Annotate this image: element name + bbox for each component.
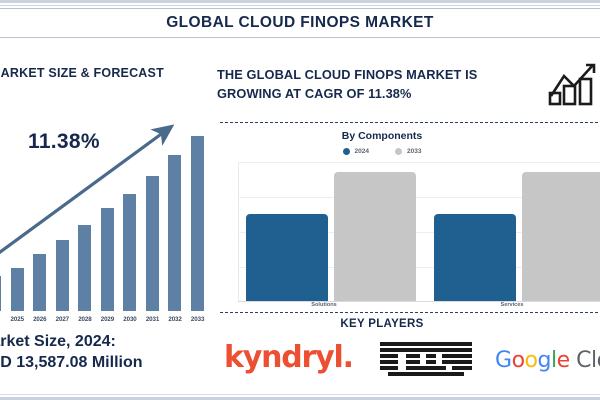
market-size-forecast-chart: [0, 116, 204, 311]
forecast-year-label: 2033: [191, 316, 204, 323]
forecast-year-label: 2031: [146, 316, 159, 323]
component-bar: [434, 214, 516, 301]
market-size-forecast-badge: MARKET SIZE & FORECAST: [0, 62, 184, 84]
legend-swatch-icon: [395, 148, 402, 155]
forecast-year-label: 2026: [33, 316, 46, 323]
title-band: GLOBAL CLOUD FINOPS MARKET: [0, 8, 600, 38]
forecast-bar: [123, 194, 136, 311]
forecast-bar: [168, 155, 181, 311]
bar-chart-growth-icon: [547, 62, 599, 106]
legend-swatch-icon: [343, 148, 350, 155]
forecast-bar: [101, 208, 114, 311]
bottom-frame-rule-secondary: [0, 394, 600, 395]
forecast-bar: [78, 225, 91, 311]
gridline: [238, 162, 600, 163]
forecast-bar: [146, 176, 159, 311]
legend-label: 2033: [407, 148, 421, 155]
key-players-title: KEY PLAYERS: [212, 318, 552, 330]
component-bar: [522, 172, 600, 301]
infographic-root: GLOBAL CLOUD FINOPS MARKET MARKET SIZE &…: [0, 0, 600, 400]
market-size-line-1: Market Size, 2024:: [0, 332, 186, 353]
divider-bottom: [220, 312, 598, 313]
forecast-year-label: 2032: [168, 316, 181, 323]
divider-top: [220, 122, 598, 123]
forecast-year-label: 2028: [78, 316, 91, 323]
forecast-year-label: 2027: [56, 316, 69, 323]
forecast-year-label: 2029: [101, 316, 114, 323]
market-size-line-2: USD 13,587.08 Million: [0, 353, 186, 374]
component-bar: [246, 214, 328, 301]
forecast-year-axis: 202520262027202820292030203120322033: [0, 316, 204, 323]
forecast-bar: [56, 240, 69, 311]
bar-group-solutions: [246, 172, 416, 301]
market-size-callout: Market Size, 2024: USD 13,587.08 Million: [0, 332, 186, 374]
top-frame-rule-secondary: [0, 5, 600, 6]
category-label: Services: [422, 302, 600, 308]
components-chart-title: By Components: [212, 130, 552, 142]
category-label: Solutions: [234, 302, 414, 308]
forecast-bar: [11, 268, 24, 311]
bottom-strip: [0, 378, 600, 394]
headline-line-2: GROWING AT CAGR OF 11.38%: [217, 85, 517, 104]
forecast-year-label: 2030: [123, 316, 136, 323]
forecast-bar: [0, 276, 1, 311]
forecast-bar: [33, 254, 46, 311]
component-bar: [334, 172, 416, 301]
page-title: GLOBAL CLOUD FINOPS MARKET: [166, 14, 434, 32]
components-legend: 20242033: [212, 148, 552, 155]
headline-block: THE GLOBAL CLOUD FINOPS MARKET IS GROWIN…: [217, 66, 517, 103]
left-panel-market-size: MARKET SIZE & FORECAST 11.38% 2025202620…: [0, 44, 220, 389]
kyndryl-logo: kyndryl.: [224, 340, 353, 375]
forecast-year-label: [0, 316, 1, 323]
legend-label: 2024: [355, 148, 369, 155]
right-panel-components: THE GLOBAL CLOUD FINOPS MARKET IS GROWIN…: [212, 44, 600, 393]
forecast-bar: [191, 136, 204, 312]
legend-item[interactable]: 2024: [343, 148, 369, 155]
forecast-year-label: 2025: [11, 316, 24, 323]
top-frame-rule: [0, 0, 600, 3]
google-cloud-logo: Google Clo: [495, 348, 600, 373]
by-components-chart: [224, 162, 600, 302]
bar-group-services: [434, 172, 600, 301]
badge-label: MARKET SIZE & FORECAST: [0, 66, 164, 80]
headline-line-1: THE GLOBAL CLOUD FINOPS MARKET IS: [217, 66, 517, 85]
forecast-bar-group: [0, 116, 204, 311]
ibm-logo: [380, 342, 472, 380]
legend-item[interactable]: 2033: [395, 148, 421, 155]
